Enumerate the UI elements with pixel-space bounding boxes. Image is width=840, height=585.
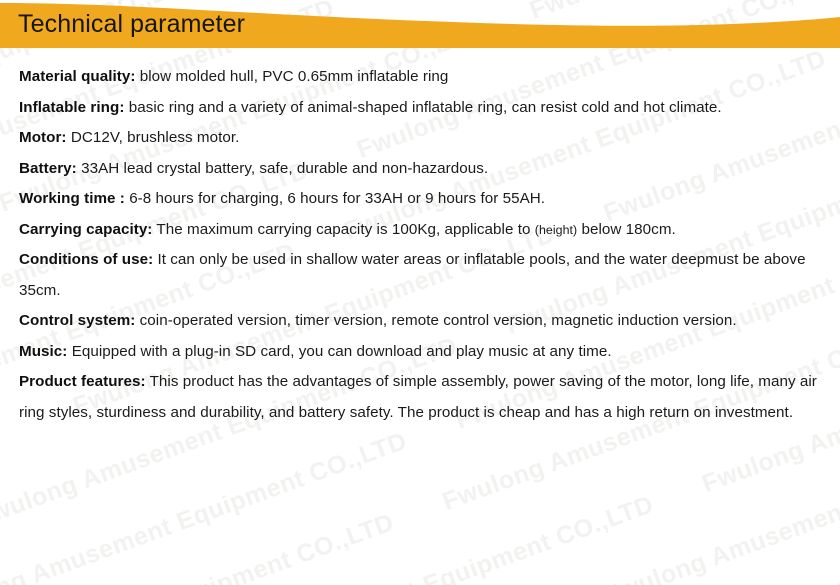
- spec-item-product-features: Product features: This product has the a…: [19, 367, 821, 428]
- spec-value: blow molded hull, PVC 0.65mm inflatable …: [140, 68, 449, 85]
- spec-item-carrying-capacity: Carrying capacity: The maximum carrying …: [19, 215, 821, 246]
- spec-item-material-quality: Material quality: blow molded hull, PVC …: [19, 62, 821, 93]
- spec-value: 6-8 hours for charging, 6 hours for 33AH…: [129, 190, 545, 207]
- spec-value-height-note: (height): [535, 223, 577, 237]
- spec-value: Equipped with a plug-in SD card, you can…: [72, 343, 612, 360]
- spec-item-motor: Motor: DC12V, brushless motor.: [19, 123, 821, 154]
- spec-value: basic ring and a variety of animal-shape…: [129, 99, 722, 116]
- watermark-text: Fwulong Amusement Equipment CO.,LTD: [0, 508, 398, 585]
- spec-item-battery: Battery: 33AH lead crystal battery, safe…: [19, 154, 821, 185]
- spec-label: Working time :: [19, 190, 125, 207]
- spec-item-conditions-of-use: Conditions of use: It can only be used i…: [19, 245, 821, 306]
- spec-value: coin-operated version, timer version, re…: [140, 312, 737, 329]
- spec-label: Motor:: [19, 129, 67, 146]
- watermark-text: Fwulong Amusement Equipment CO.,LTD: [601, 409, 840, 585]
- spec-label: Battery:: [19, 160, 77, 177]
- spec-value: The maximum carrying capacity is 100Kg, …: [156, 221, 530, 238]
- spec-label: Product features:: [19, 373, 146, 390]
- spec-label: Carrying capacity:: [19, 221, 152, 238]
- spec-list: Material quality: blow molded hull, PVC …: [19, 62, 821, 428]
- spec-label: Control system:: [19, 312, 135, 329]
- watermark-text: Fwulong Amusement Equipment CO.,LTD: [550, 504, 840, 585]
- watermark-text: Fwulong Amusement Equipment CO.,LTD: [0, 427, 411, 585]
- watermark-row: Fwulong Amusement Equipment CO.,LTDFwulo…: [0, 438, 840, 585]
- spec-label: Material quality:: [19, 68, 135, 85]
- spec-item-inflatable-ring: Inflatable ring: basic ring and a variet…: [19, 93, 821, 124]
- technical-parameter-page: Fwulong Amusement Equipment CO.,LTDFwulo…: [0, 0, 840, 585]
- spec-value-tail: below 180cm.: [581, 221, 675, 238]
- page-title: Technical parameter: [18, 8, 245, 40]
- watermark-text: Fwulong Amusement Equipment CO.,LTD: [168, 490, 657, 585]
- spec-item-working-time: Working time : 6-8 hours for charging, 6…: [19, 184, 821, 215]
- spec-value: 33AH lead crystal battery, safe, durable…: [81, 160, 488, 177]
- spec-label: Conditions of use:: [19, 251, 153, 268]
- spec-item-music: Music: Equipped with a plug-in SD card, …: [19, 337, 821, 368]
- spec-value: DC12V, brushless motor.: [71, 129, 240, 146]
- spec-label: Music:: [19, 343, 67, 360]
- spec-item-control-system: Control system: coin-operated version, t…: [19, 306, 821, 337]
- spec-label: Inflatable ring:: [19, 99, 124, 116]
